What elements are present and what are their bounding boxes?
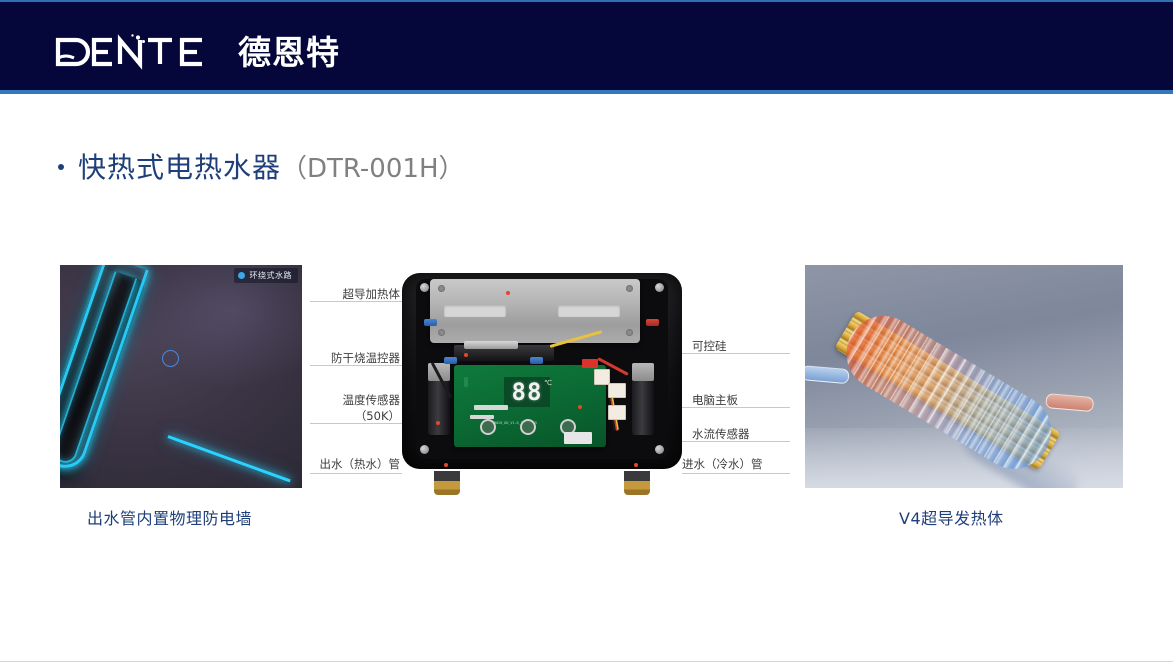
connector-white-2 (608, 383, 626, 398)
water-path-highlight-ring (162, 350, 179, 367)
caption-right: V4超导发热体 (899, 505, 1004, 529)
marker-dot-brass-left (444, 463, 448, 467)
page-header: 德恩特 (0, 0, 1173, 94)
figure-heating-element-image (805, 265, 1123, 488)
hot-outlet-pipe (1045, 393, 1094, 412)
heating-block-screw-4 (626, 329, 633, 336)
heating-block-screw-3 (438, 329, 445, 336)
cylinder-metal-right (632, 363, 654, 381)
case-screw-top-left (420, 283, 429, 292)
cold-inlet-pipe (805, 365, 850, 384)
caption-left: 出水管内置物理防电墙 (87, 505, 252, 529)
figure-row: 环绕式水路 超导加热体 防干烧温控器 温度传感器 （50K） 出水（热水）管 可… (0, 265, 1173, 535)
marker-dot-outlet (436, 421, 440, 425)
case-screw-bottom-right (655, 445, 664, 454)
temperature-display: 88 ℃ (504, 377, 550, 407)
heating-block-slot-right (558, 305, 620, 317)
marker-dot-pcb (578, 405, 582, 409)
page-title-text: 快热式电热水器 (78, 146, 281, 186)
brand-logo[interactable]: 德恩特 (54, 32, 340, 72)
callout-temperature-sensor: 温度传感器 (306, 393, 400, 409)
display-unit: ℃ (544, 379, 552, 387)
figure-left-tag: 环绕式水路 (234, 268, 299, 283)
case-screw-top-right (655, 283, 664, 292)
control-board-pcb: 88 ℃ AC8820_DD_V1.0_20200915 (454, 365, 606, 447)
marker-dot-brass-right (634, 463, 638, 467)
callout-hot-water-outlet: 出水（热水）管 (288, 457, 400, 473)
callout-superconductive-heater: 超导加热体 (308, 287, 400, 303)
product-body: 88 ℃ AC8820_DD_V1.0_20200915 (402, 273, 682, 483)
blue-terminal-mid (444, 357, 457, 364)
callout-flow-sensor: 水流传感器 (692, 427, 750, 443)
heating-block-screw-1 (438, 285, 445, 292)
marker-dot-thermostat (464, 353, 468, 357)
callout-thyristor: 可控硅 (692, 339, 727, 355)
callout-temperature-sensor-spec: （50K） (306, 409, 400, 425)
leader-line-4 (310, 473, 402, 474)
figure-water-path-image: 环绕式水路 (60, 265, 302, 488)
pcb-sticker-label (564, 432, 592, 444)
brand-logo-cn: 德恩特 (238, 36, 340, 69)
heating-block-screw-2 (626, 285, 633, 292)
figure-left-tag-label: 环绕式水路 (250, 270, 293, 281)
bullet-icon (58, 164, 64, 170)
blue-terminal-left (424, 319, 437, 326)
thermostat-metal-clip (464, 341, 518, 349)
pcb-chip-3 (464, 377, 468, 387)
leader-line-8 (682, 473, 790, 474)
blue-terminal-right (530, 357, 543, 364)
pcb-pad-2 (520, 419, 536, 435)
heating-block (430, 279, 640, 343)
callout-cold-water-inlet: 进水（冷水）管 (682, 457, 763, 473)
tag-dot-icon (238, 272, 245, 279)
display-value: 88 (512, 380, 543, 404)
pcb-chip-2 (470, 415, 494, 419)
marker-dot-heater (506, 291, 510, 295)
page-title: 快热式电热水器 （DTR-001H） (58, 146, 465, 186)
hot-water-outlet-fitting (434, 471, 460, 495)
heating-block-slot-left (444, 305, 506, 317)
figure-product-cutaway: 超导加热体 防干烧温控器 温度传感器 （50K） 出水（热水）管 可控硅 电脑主… (310, 265, 790, 490)
dente-wordmark-icon (54, 34, 232, 70)
pcb-chip-1 (474, 405, 508, 410)
callout-control-board: 电脑主板 (692, 393, 738, 409)
case-screw-bottom-left (420, 445, 429, 454)
red-terminal-right (646, 319, 659, 326)
connector-red (582, 359, 598, 368)
pcb-pad-1 (480, 419, 496, 435)
page-title-model-code: （DTR-001H） (281, 148, 464, 185)
callout-dry-burn-thermostat: 防干烧温控器 (296, 351, 400, 367)
connector-white-3 (608, 405, 626, 420)
cold-water-inlet-fitting (624, 471, 650, 495)
